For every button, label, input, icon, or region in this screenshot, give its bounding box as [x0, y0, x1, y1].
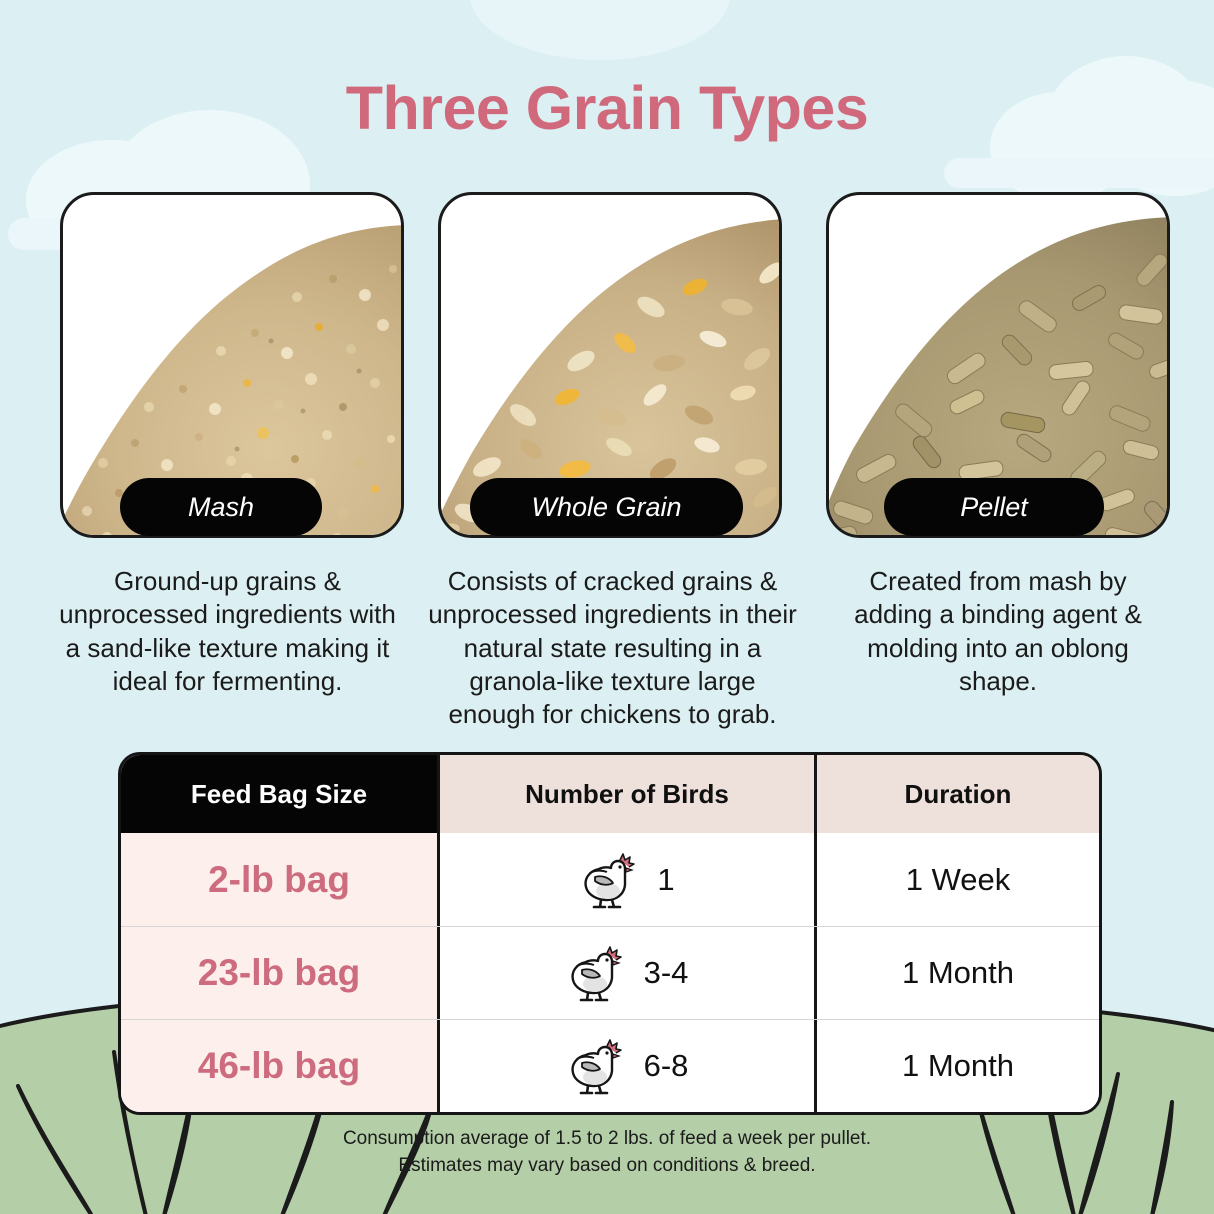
bird-count-label: 1 — [657, 862, 674, 898]
card-description-pellet: Created from mash by adding a binding ag… — [828, 565, 1168, 698]
footnote-line-2: Estimates may vary based on conditions &… — [0, 1153, 1214, 1180]
cell-bag-size: 2-lb bag — [121, 833, 437, 926]
cell-duration: 1 Month — [814, 927, 1099, 1019]
card-label-text: Pellet — [960, 492, 1028, 523]
table-row: 23-lb bag 3-4 — [121, 926, 1099, 1019]
cell-number-of-birds: 1 — [437, 833, 814, 926]
table-row: 2-lb bag 1 1 — [121, 833, 1099, 926]
card-label-mash: Mash — [120, 478, 322, 536]
header-number-of-birds: Number of Birds — [437, 755, 814, 833]
cell-number-of-birds: 3-4 — [437, 927, 814, 1019]
cell-duration: 1 Month — [814, 1020, 1099, 1112]
cloud-right-base — [944, 158, 1214, 188]
header-duration: Duration — [814, 755, 1099, 833]
table-row: 46-lb bag 6-8 — [121, 1019, 1099, 1112]
card-label-text: Whole Grain — [531, 492, 681, 523]
table-header-row: Feed Bag Size Number of Birds Duration — [121, 755, 1099, 833]
card-description-mash: Ground-up grains & unprocessed ingredien… — [55, 565, 400, 698]
bird-count-label: 6-8 — [644, 1048, 689, 1084]
chicken-icon — [579, 851, 641, 909]
bird-count-label: 3-4 — [644, 955, 689, 991]
infographic-canvas: Three Grain Types — [0, 0, 1214, 1214]
card-description-whole-grain: Consists of cracked grains & unprocessed… — [425, 565, 800, 731]
feed-bag-table: Feed Bag Size Number of Birds Duration 2… — [118, 752, 1102, 1115]
cell-duration: 1 Week — [814, 833, 1099, 926]
cell-bag-size: 23-lb bag — [121, 927, 437, 1019]
card-label-text: Mash — [188, 492, 254, 523]
cell-number-of-birds: 6-8 — [437, 1020, 814, 1112]
card-label-pellet: Pellet — [884, 478, 1104, 536]
chicken-icon — [566, 1037, 628, 1095]
chicken-icon — [566, 944, 628, 1002]
cell-bag-size: 46-lb bag — [121, 1020, 437, 1112]
card-label-whole-grain: Whole Grain — [470, 478, 743, 536]
header-feed-bag-size: Feed Bag Size — [121, 755, 437, 833]
footnote-line-1: Consumption average of 1.5 to 2 lbs. of … — [0, 1126, 1214, 1153]
page-title: Three Grain Types — [0, 78, 1214, 139]
footnote: Consumption average of 1.5 to 2 lbs. of … — [0, 1126, 1214, 1180]
